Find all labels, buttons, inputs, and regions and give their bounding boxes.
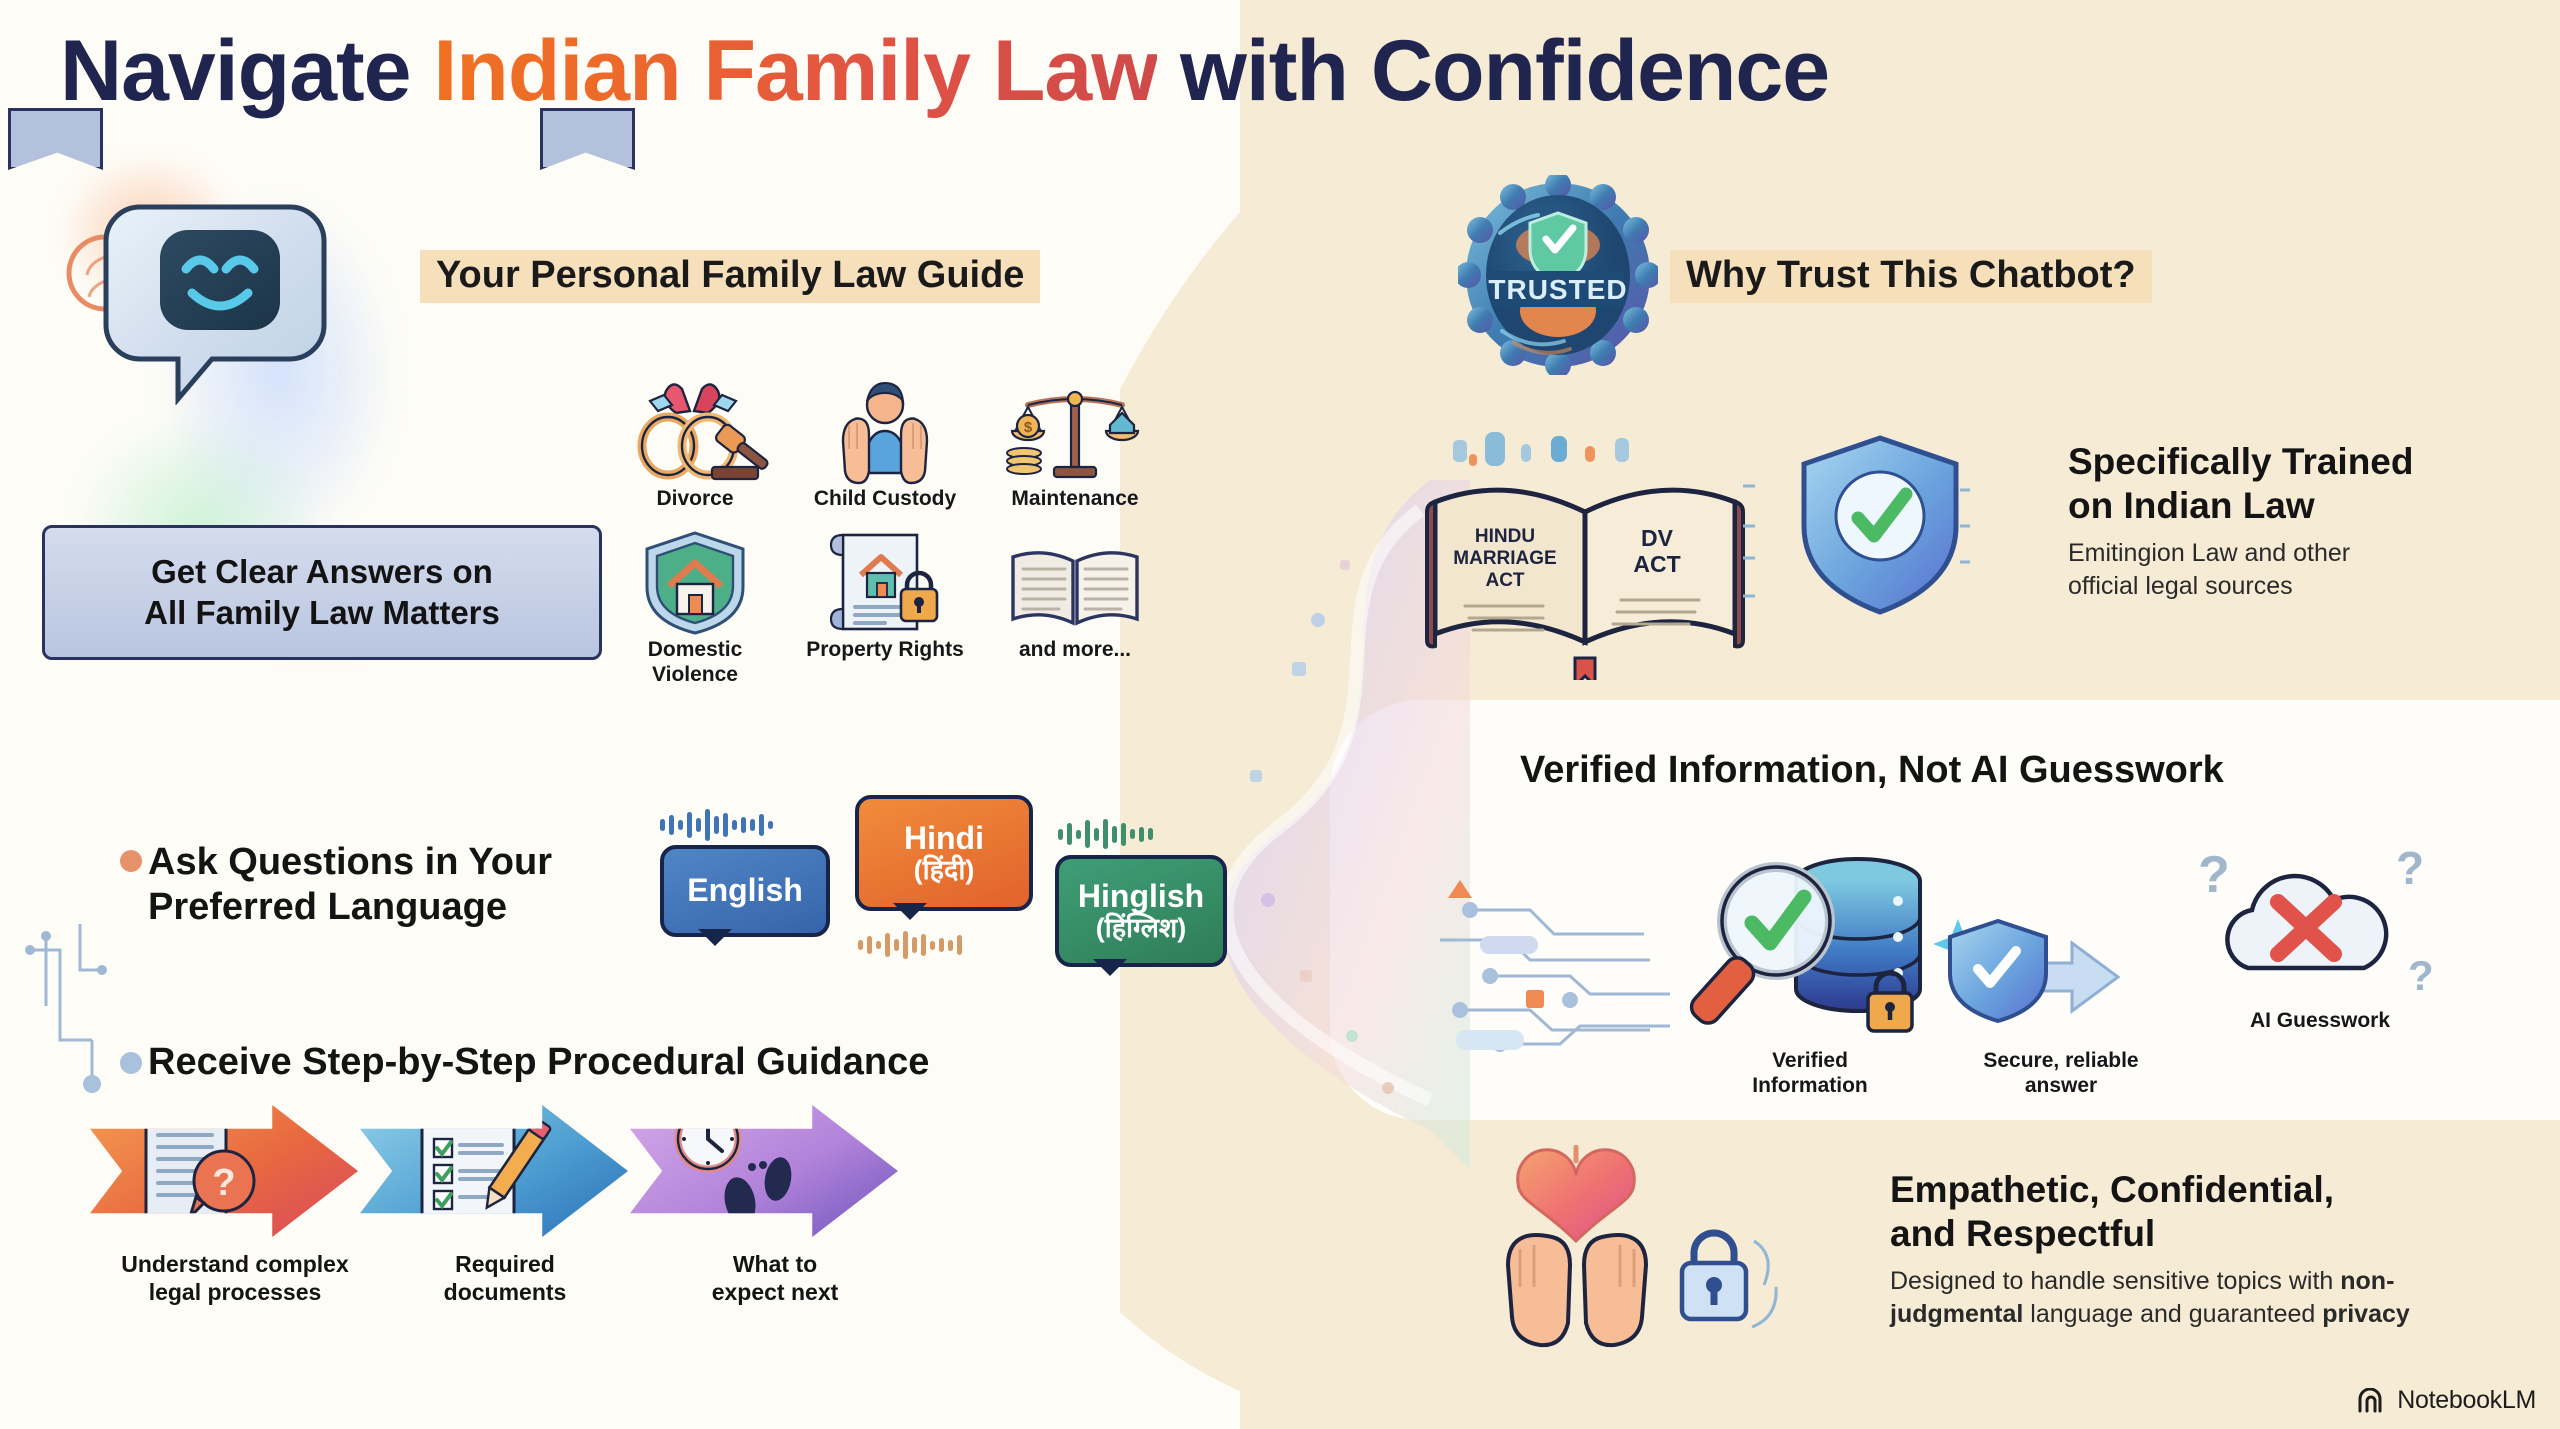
verified-item-label-3: AI Guesswork [2210, 1008, 2430, 1033]
step-arrow [630, 1105, 898, 1237]
verified-item-label-1: Verified Information [1720, 1048, 1900, 1098]
cloud-red-x-question-marks-icon: ? ? ? [2160, 840, 2460, 1020]
topic-label: Child Custody [814, 486, 956, 511]
language-bubble-hinglish[interactable]: Hinglish (हिंग्लिश) [1055, 855, 1227, 967]
svg-text:ACT: ACT [1633, 551, 1680, 577]
language-name: Hindi [904, 821, 984, 856]
topic-domestic-violence[interactable]: Domestic Violence [600, 529, 790, 687]
document-question-icon: ? [90, 1105, 358, 1237]
topic-child-custody[interactable]: Child Custody [790, 378, 980, 511]
why-trust-heading: Why Trust This Chatbot? [1670, 250, 2152, 303]
open-law-book-icon: HINDU MARRIAGE ACT DV ACT [1425, 430, 1755, 680]
empathetic-block: Empathetic, Confidential, and Respectful… [1890, 1168, 2490, 1331]
trained-body-line2: official legal sources [2068, 570, 2538, 603]
preferred-language-heading: Ask Questions in Your Preferred Language [148, 840, 552, 930]
step-label-line2: expect next [630, 1279, 920, 1307]
svg-text:DV: DV [1641, 525, 1674, 551]
step-what-to-expect[interactable]: What to expect next [630, 1105, 920, 1306]
topic-label: Divorce [656, 486, 733, 511]
notebooklm-watermark: NotebookLM [2357, 1386, 2536, 1415]
voice-wave-hinglish-icon [1058, 818, 1153, 850]
why-trust-heading-wrap: Why Trust This Chatbot? [1670, 250, 2152, 303]
open-book-icon [1005, 541, 1145, 637]
topic-label: and more... [1019, 637, 1131, 662]
step-label-line1: Understand complex [90, 1251, 380, 1279]
bullet-dot-language [20, 830, 50, 860]
topic-grid: Divorce Child Custody [600, 378, 1170, 688]
svg-text:?: ? [2198, 846, 2230, 904]
step-label-line1: What to [630, 1251, 920, 1279]
topic-and-more[interactable]: and more... [980, 529, 1170, 687]
hands-heart-padlock-icon [1480, 1145, 1810, 1355]
ribbon-line-1: Get Clear Answers on [144, 552, 500, 592]
svg-text:$: $ [1024, 419, 1033, 436]
clipboard-checklist-pencil-icon [360, 1105, 628, 1237]
verified-information-heading: Verified Information, Not AI Guesswork [1520, 748, 2224, 793]
topic-divorce[interactable]: Divorce [600, 378, 790, 511]
step-required-documents[interactable]: Required documents [360, 1105, 650, 1306]
watermark-label: NotebookLM [2397, 1386, 2536, 1415]
empathetic-body-pre: Designed to handle sensitive topics with [1890, 1267, 2340, 1295]
preferred-language-heading-line2: Preferred Language [148, 885, 552, 930]
trusted-seal-shield-check-icon: TRUSTED [1458, 175, 1658, 375]
badge-label: TRUSTED [1488, 274, 1627, 305]
step-arrow: ? [90, 1105, 358, 1237]
title-part-with-confidence: with Confidence [1157, 23, 1829, 119]
empathetic-heading-line2: and Respectful [1890, 1212, 2490, 1256]
language-native-name: (हिंदी) [914, 856, 975, 886]
personal-guide-heading-wrap: Your Personal Family Law Guide [420, 250, 1040, 303]
notebooklm-logo-icon [2357, 1388, 2387, 1414]
language-bubble-hindi[interactable]: Hindi (हिंदी) [855, 795, 1033, 911]
page-title: Navigate Indian Family Law with Confiden… [60, 22, 2520, 121]
svg-text:?: ? [2408, 952, 2434, 999]
procedural-guidance-heading: Receive Step-by-Step Procedural Guidance [148, 1040, 929, 1085]
title-part-indian-family-law: Indian Family Law [433, 23, 1157, 119]
svg-text:ACT: ACT [1485, 570, 1524, 591]
voice-wave-hindi-icon [858, 930, 962, 960]
clock-footsteps-icon [630, 1105, 898, 1237]
topic-label: Property Rights [806, 637, 964, 662]
empathetic-body: Designed to handle sensitive topics with… [1890, 1265, 2490, 1331]
ribbon-body: Get Clear Answers on All Family Law Matt… [42, 525, 602, 660]
trained-heading-line2: on Indian Law [2068, 484, 2538, 528]
ribbon-line-2: All Family Law Matters [144, 593, 500, 633]
step-label-line2: legal processes [90, 1279, 380, 1307]
language-native-name: (हिंग्लिश) [1096, 914, 1187, 944]
language-bubble-english[interactable]: English [660, 845, 830, 937]
preferred-language-heading-line1: Ask Questions in Your [148, 840, 552, 885]
svg-text:?: ? [2396, 842, 2424, 894]
personal-guide-heading: Your Personal Family Law Guide [420, 250, 1040, 303]
steps-flow: ? Understand complex legal processes [90, 1105, 970, 1405]
chatbot-smiling-face-icon [60, 185, 370, 405]
title-part-navigate: Navigate [60, 23, 433, 119]
empathetic-heading-line1: Empathetic, Confidential, [1890, 1168, 2490, 1212]
shield-house-icon [635, 529, 755, 637]
scales-money-house-icon: $ [1000, 381, 1150, 486]
shield-check-icon [1790, 430, 1970, 620]
trained-body-line1: Emitingion Law and other [2068, 537, 2538, 570]
verified-item-label-2: Secure, reliable answer [1946, 1048, 2176, 1098]
step-label-line1: Required [360, 1251, 650, 1279]
bullet-dot-steps [120, 1052, 142, 1074]
broken-heart-rings-gavel-icon [620, 381, 770, 486]
language-name: English [687, 873, 803, 908]
topic-maintenance[interactable]: $ Maintenance [980, 378, 1170, 511]
step-understand-processes[interactable]: ? Understand complex legal processes [90, 1105, 380, 1306]
svg-text:?: ? [212, 1162, 235, 1204]
deed-scroll-padlock-icon [815, 529, 955, 637]
svg-text:MARRIAGE: MARRIAGE [1453, 548, 1556, 569]
voice-wave-english-icon [660, 808, 773, 842]
shield-check-arrow-icon [1940, 915, 2160, 1045]
topic-label: Maintenance [1011, 486, 1138, 511]
topic-label: Domestic Violence [648, 637, 743, 687]
language-name: Hinglish [1078, 879, 1204, 914]
svg-text:HINDU: HINDU [1475, 526, 1535, 547]
empathetic-body-mid: language and guaranteed [2023, 1300, 2322, 1328]
infographic-canvas: Navigate Indian Family Law with Confiden… [0, 0, 2560, 1429]
topic-property-rights[interactable]: Property Rights [790, 529, 980, 687]
hands-holding-child-icon [815, 381, 955, 486]
trained-heading-line1: Specifically Trained [2068, 440, 2538, 484]
step-label-line2: documents [360, 1279, 650, 1307]
empathetic-body-bold2: privacy [2322, 1300, 2410, 1328]
step-arrow [360, 1105, 628, 1237]
trained-on-indian-law-block: Specifically Trained on Indian Law Emiti… [2068, 440, 2538, 603]
